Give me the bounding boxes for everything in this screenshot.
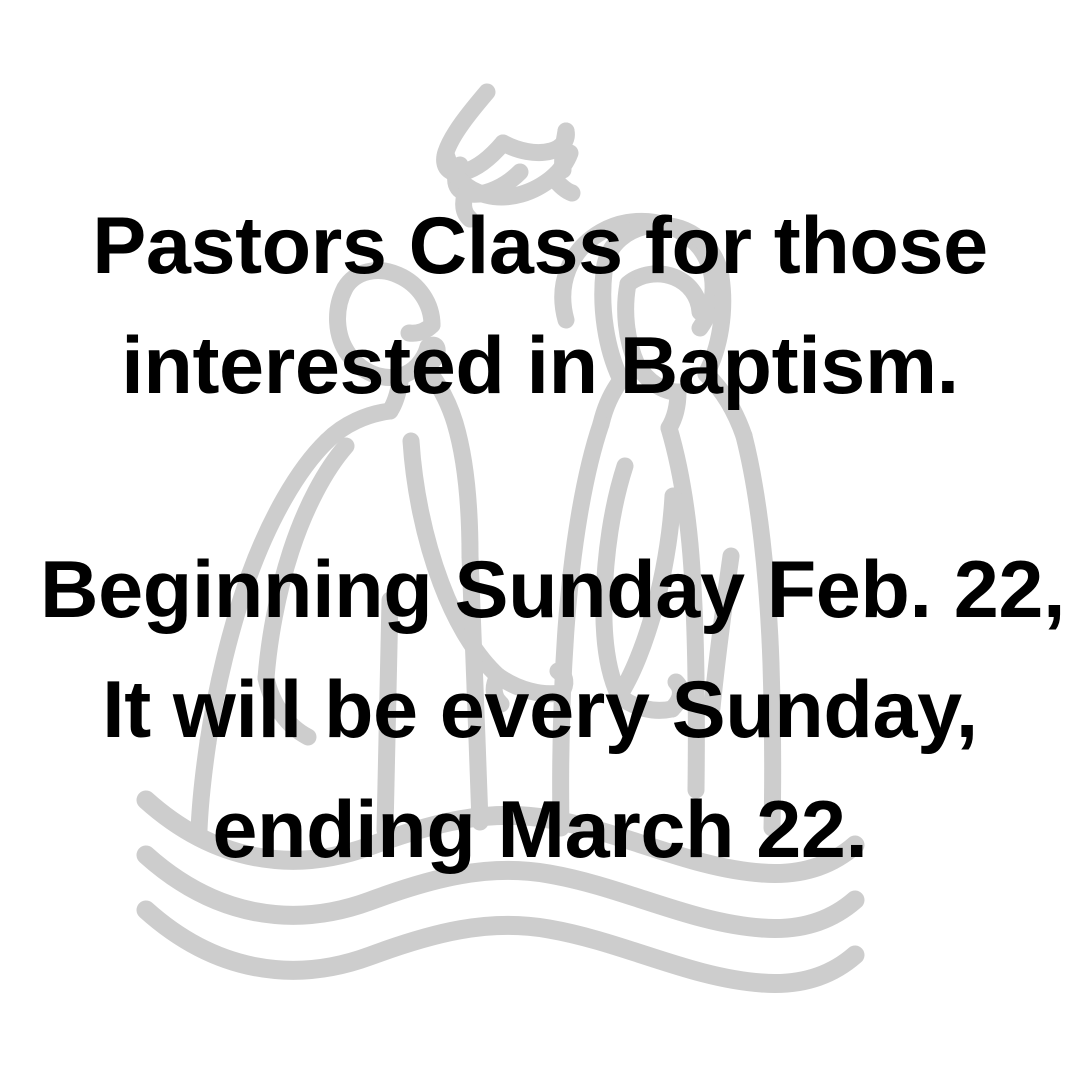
paragraph-one: Pastors Class for those interested in Ba… — [40, 186, 1040, 426]
paragraph-two-line-3: ending March 22. — [40, 770, 1040, 890]
paragraph-two-line-1: Beginning Sunday Feb. 22, — [40, 530, 1040, 650]
announcement-text: Pastors Class for those interested in Ba… — [0, 0, 1080, 1080]
paragraph-one-line-1: Pastors Class for those — [40, 186, 1040, 306]
paragraph-one-line-2: interested in Baptism. — [40, 306, 1040, 426]
poster-canvas: Pastors Class for those interested in Ba… — [0, 0, 1080, 1080]
paragraph-two-line-2: It will be every Sunday, — [40, 650, 1040, 770]
paragraph-two: Beginning Sunday Feb. 22, It will be eve… — [40, 530, 1040, 890]
